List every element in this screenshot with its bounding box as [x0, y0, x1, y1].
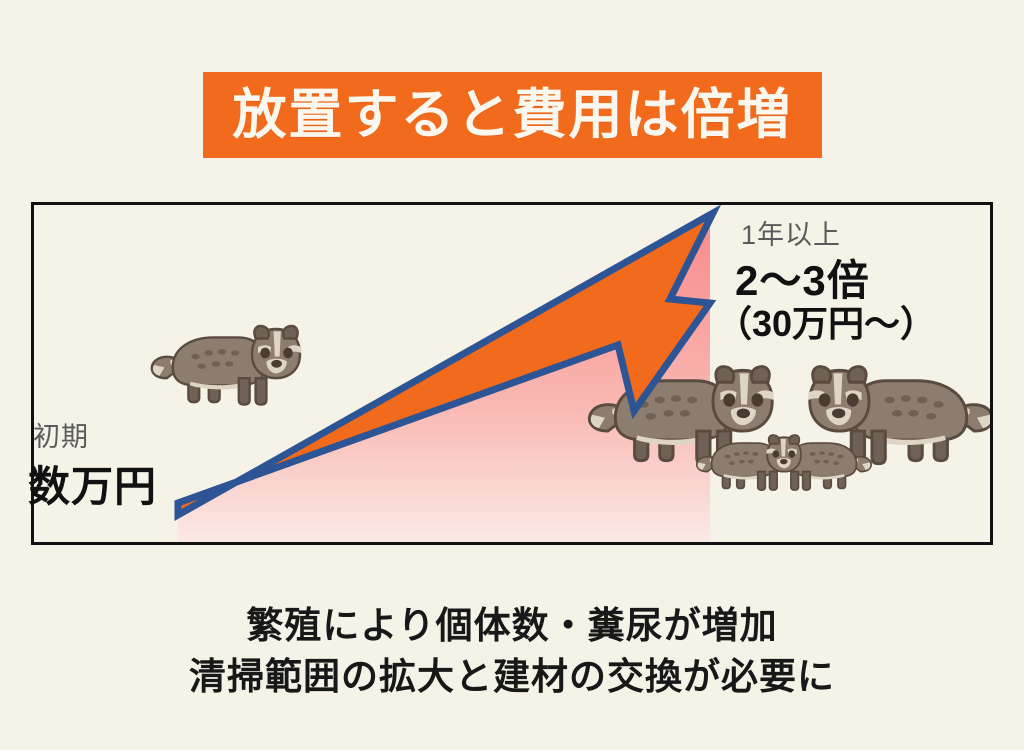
caption-block: 繁殖により個体数・糞尿が増加 清掃範囲の拡大と建材の交換が必要に: [0, 600, 1024, 702]
caption-line-2: 清掃範囲の拡大と建材の交換が必要に: [0, 651, 1024, 702]
caption-line-1: 繁殖により個体数・糞尿が増加: [0, 600, 1024, 651]
diagram-inner: [34, 205, 990, 542]
diagram-frame: [31, 202, 993, 545]
title-banner: 放置すると費用は倍増: [203, 72, 822, 158]
growth-chart-graphic: [34, 205, 990, 542]
initial-stage-caption: 初期: [33, 424, 89, 451]
slide-canvas: 放置すると費用は倍増: [0, 0, 1024, 750]
later-stage-amount: （30万円〜）: [716, 306, 936, 342]
initial-stage-value: 数万円: [28, 466, 157, 508]
later-stage-value: 2〜3倍: [735, 260, 870, 302]
page-title: 放置すると費用は倍増: [233, 88, 793, 142]
later-stage-caption: 1年以上: [741, 222, 841, 249]
